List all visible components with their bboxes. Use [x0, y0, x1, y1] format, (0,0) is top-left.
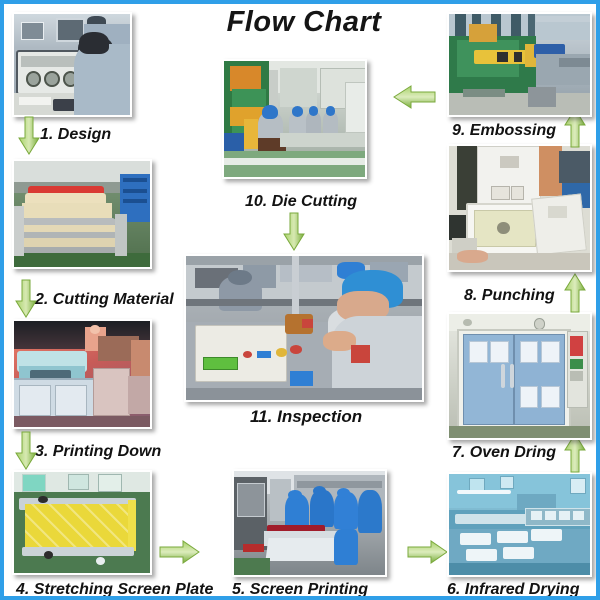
step-label-8: 8. Punching	[464, 288, 555, 304]
arrow-screen-to-infrared	[407, 539, 449, 565]
photo-infrared-drying	[447, 472, 592, 577]
photo-design	[12, 12, 132, 117]
step-label-9: 9. Embossing	[452, 123, 556, 139]
arrow-die-cutting-to-inspection	[281, 212, 307, 252]
step-label-1: 1. Design	[40, 127, 111, 143]
photo-cutting-material	[12, 159, 152, 269]
arrow-design-to-cutting	[17, 116, 41, 156]
step-label-10: 10. Die Cutting	[245, 194, 357, 210]
photo-die-cutting	[222, 59, 367, 179]
step-label-6: 6. Infrared Drying	[447, 582, 579, 598]
photo-punching	[447, 144, 592, 272]
step-label-7: 7. Oven Dring	[452, 445, 556, 461]
photo-oven-dring	[447, 312, 592, 440]
step-label-5: 5. Screen Printing	[232, 582, 368, 598]
photo-embossing	[447, 12, 592, 117]
arrow-embossing-to-die-cutting	[392, 84, 436, 110]
page-title: Flow Chart	[154, 6, 454, 39]
photo-screen-printing	[232, 469, 387, 577]
arrow-stretching-to-screen	[159, 539, 201, 565]
arrow-cutting-to-printing	[14, 279, 38, 319]
arrow-oven-to-punching	[562, 272, 588, 314]
flow-chart-page: Flow Chart 1. Design	[0, 0, 600, 600]
step-label-11: 11. Inspection	[250, 408, 362, 425]
step-label-2: 2. Cutting Material	[35, 292, 174, 308]
photo-inspection	[184, 254, 424, 402]
photo-printing-down	[12, 319, 152, 429]
step-label-3: 3. Printing Down	[35, 444, 161, 460]
photo-stretching-screen-plate	[12, 470, 152, 575]
step-label-4: 4. Stretching Screen Plate	[16, 582, 213, 598]
arrow-printing-to-stretching	[14, 431, 38, 471]
